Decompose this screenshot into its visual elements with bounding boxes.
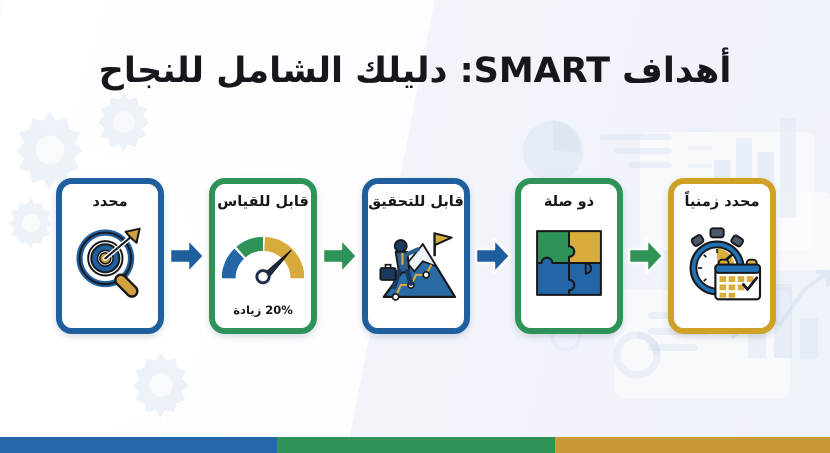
footer-segment-blue — [0, 437, 277, 453]
infographic-canvas: أهداف SMART: دليلك الشامل للنجاح محدد — [0, 0, 830, 453]
footer-color-bar — [0, 437, 830, 453]
smart-card-timebound[interactable]: محدد زمنياً — [668, 178, 776, 334]
gear-icon — [4, 196, 58, 250]
smart-card-specific[interactable]: محدد — [56, 178, 164, 334]
card-title: قابل للقياس — [217, 195, 309, 210]
gear-icon — [126, 350, 196, 420]
page-title: أهداف SMART: دليلك الشامل للنجاح — [0, 48, 830, 95]
flow-arrow-1 — [164, 172, 209, 340]
document-lines-icon — [600, 130, 680, 174]
flow-arrow-4 — [623, 172, 668, 340]
card-title: ذو صلة — [544, 195, 594, 210]
card-title: محدد زمنياً — [685, 195, 760, 210]
gauge-icon — [215, 210, 311, 305]
flow-arrow-3 — [470, 172, 515, 340]
footer-segment-green — [277, 437, 555, 453]
mountain-climber-flag-icon — [368, 210, 464, 317]
footer-segment-gold — [555, 437, 830, 453]
smart-card-relevant[interactable]: ذو صلة — [515, 178, 623, 334]
smart-goal-flow: محدد — [56, 172, 776, 340]
gear-icon — [92, 90, 156, 154]
card-subtitle: 20% زيادة — [233, 305, 292, 317]
target-magnifier-icon — [62, 210, 158, 317]
stopwatch-calendar-icon — [674, 210, 770, 317]
card-title: محدد — [92, 195, 127, 210]
card-title: قابل للتحقيق — [368, 195, 464, 210]
puzzle-pieces-icon — [521, 210, 617, 317]
smart-card-achievable[interactable]: قابل للتحقيق — [362, 178, 470, 334]
smart-card-measurable[interactable]: قابل للقياس 20% زيادة — [209, 178, 317, 334]
flow-arrow-2 — [317, 172, 362, 340]
